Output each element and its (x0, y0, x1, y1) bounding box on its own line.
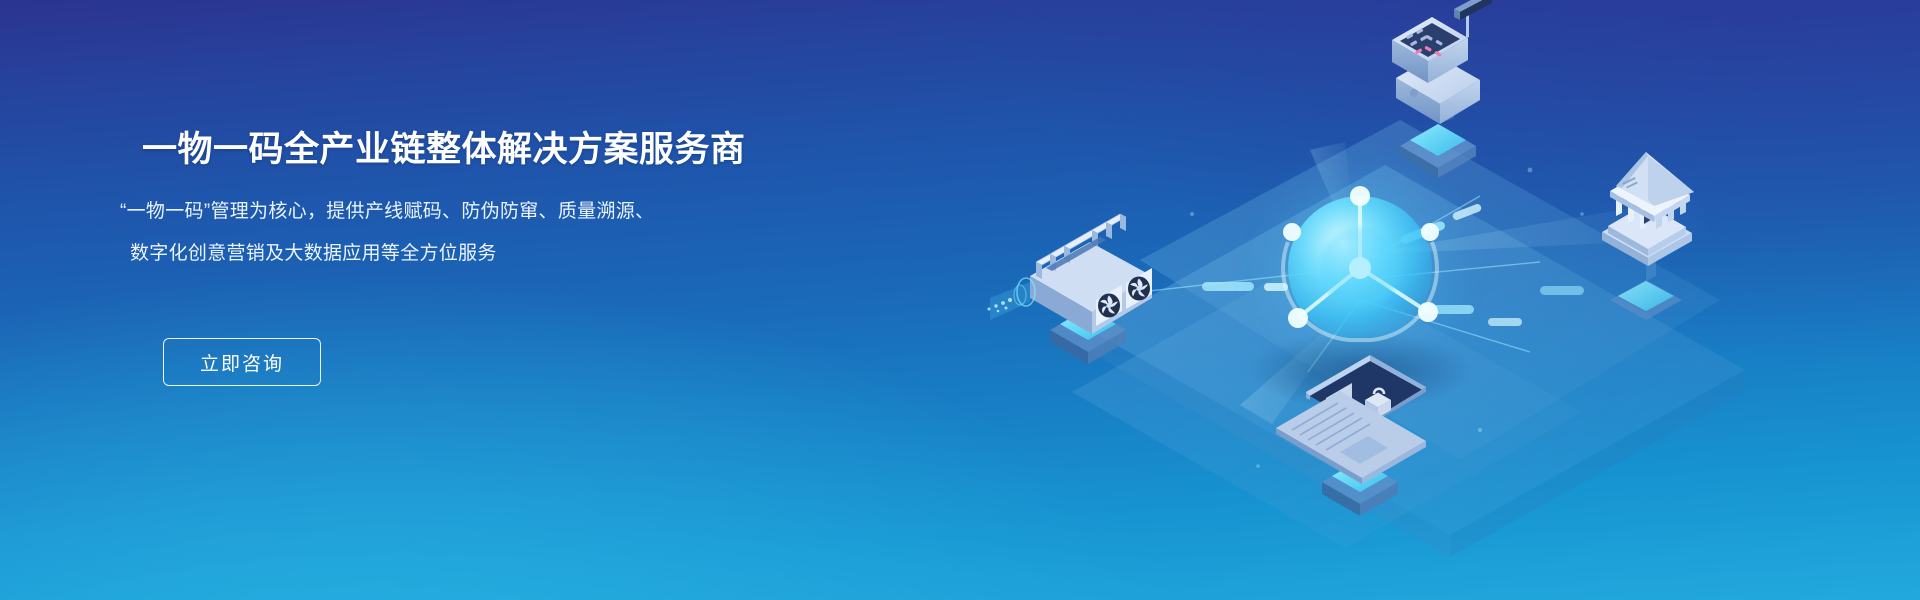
scan-beam (988, 278, 1036, 320)
consult-now-button[interactable]: 立即咨询 (163, 338, 321, 386)
subtitle-line-2: 数字化创意营销及大数据应用等全方位服务 (130, 236, 878, 272)
pos-terminal-icon (1392, 0, 1492, 178)
page-title: 一物一码全产业链整体解决方案服务商 (142, 128, 878, 172)
hero-copy: 一物一码全产业链整体解决方案服务商 “一物一码”管理为核心，提供产线赋码、防伪防… (118, 128, 878, 278)
isometric-illustration (840, 0, 1920, 600)
subtitle-line-1: “一物一码”管理为核心，提供产线赋码、防伪防窜、质量溯源、 (120, 194, 878, 230)
hero-banner: 一物一码全产业链整体解决方案服务商 “一物一码”管理为核心，提供产线赋码、防伪防… (0, 0, 1920, 600)
